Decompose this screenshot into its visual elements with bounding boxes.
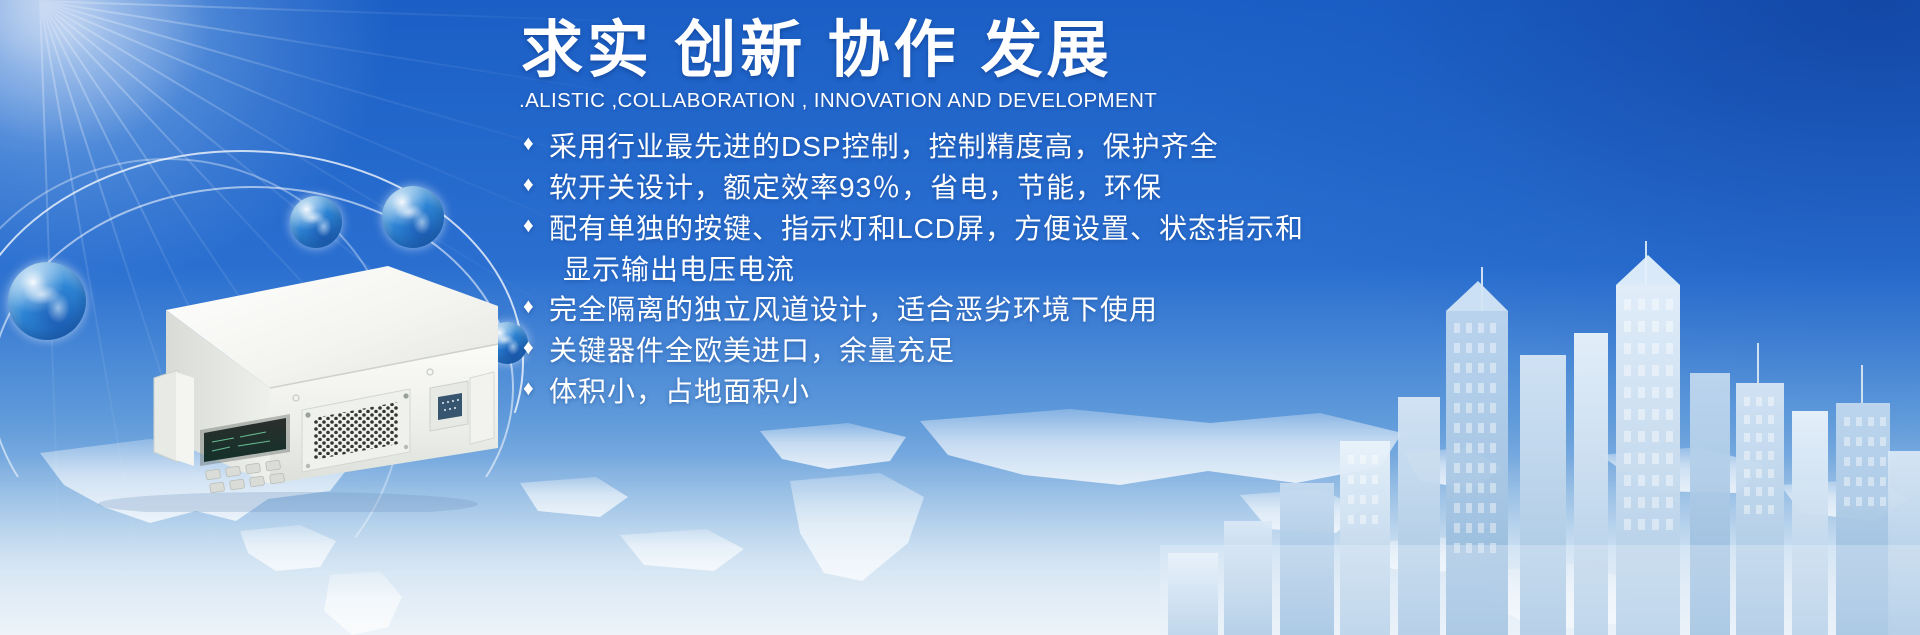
diamond-bullet-icon: ♦ [523,209,549,243]
promo-banner: 求实 创新 协作 发展 .ALISTIC ,COLLABORATION , IN… [0,0,1920,635]
list-item: ♦ 采用行业最先进的DSP控制，控制精度高，保护齐全 [523,127,1845,168]
list-item: ♦ 完全隔离的独立风道设计，适合恶劣环境下使用 [523,290,1845,331]
list-item: ♦ 关键器件全欧美进口，余量充足 [523,331,1845,372]
list-item-label: 配有单独的按键、指示灯和LCD屏，方便设置、状态指示和 [549,209,1304,250]
globe-icon-2 [290,196,342,248]
banner-copy: 求实 创新 协作 发展 .ALISTIC ,COLLABORATION , IN… [515,18,1845,413]
globe-icon-3 [382,186,444,248]
diamond-bullet-icon: ♦ [523,168,549,202]
list-item-label: 完全隔离的独立风道设计，适合恶劣环境下使用 [549,290,1158,331]
list-item-label: 关键器件全欧美进口，余量充足 [549,331,955,372]
list-item: ♦ 配有单独的按键、指示灯和LCD屏，方便设置、状态指示和 [523,209,1845,250]
diamond-bullet-icon: ♦ [523,372,549,406]
diamond-bullet-icon: ♦ [523,127,549,161]
diamond-bullet-icon: ♦ [523,331,549,365]
product-power-supply [58,252,498,512]
list-item-continuation: ♦ 显示输出电压电流 [523,250,1845,291]
headline: 求实 创新 协作 发展 [515,18,1845,85]
subheadline: .ALISTIC ,COLLABORATION , INNOVATION AND… [515,89,1845,113]
list-item: ♦ 软开关设计，额定效率93％，省电，节能，环保 [523,168,1845,209]
feature-list: ♦ 采用行业最先进的DSP控制，控制精度高，保护齐全 ♦ 软开关设计，额定效率9… [515,127,1845,413]
list-item: ♦ 体积小，占地面积小 [523,372,1845,413]
list-item-label: 软开关设计，额定效率93％，省电，节能，环保 [549,168,1162,209]
list-item-label: 显示输出电压电流 [549,250,795,291]
diamond-bullet-icon: ♦ [523,290,549,324]
list-item-label: 体积小，占地面积小 [549,372,810,413]
list-item-label: 采用行业最先进的DSP控制，控制精度高，保护齐全 [549,127,1219,168]
